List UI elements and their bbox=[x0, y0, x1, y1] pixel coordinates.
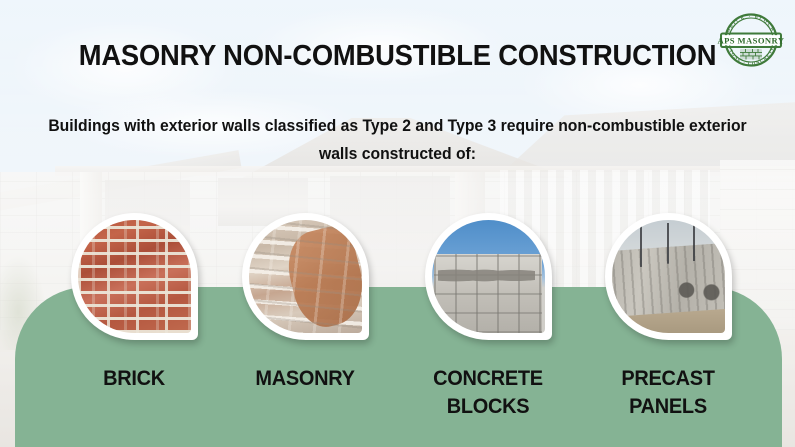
material-label-line2: BLOCKS bbox=[447, 395, 530, 418]
material-label-line1: PRECAST bbox=[621, 367, 714, 390]
material-badge[interactable] bbox=[71, 213, 198, 340]
material-item-concrete-blocks[interactable]: CONCRETE BLOCKS bbox=[398, 213, 578, 340]
material-badge[interactable] bbox=[425, 213, 552, 340]
material-label: PRECAST PANELS bbox=[583, 365, 754, 421]
infographic-slide: APS MASONRY BRICK · BLOCK STONE · CONCRE… bbox=[0, 0, 795, 447]
material-label: MASONRY bbox=[220, 365, 391, 393]
material-label-line2: PANELS bbox=[629, 395, 707, 418]
precast-panels-photo bbox=[612, 220, 725, 333]
concrete-blocks-photo bbox=[432, 220, 545, 333]
material-badge[interactable] bbox=[242, 213, 369, 340]
page-title: MASONRY NON-COMBUSTIBLE CONSTRUCTION bbox=[16, 40, 779, 73]
page-subtitle: Buildings with exterior walls classified… bbox=[33, 112, 761, 168]
bricklayer-stonework-photo bbox=[249, 220, 362, 333]
red-brick-wall-photo bbox=[78, 220, 191, 333]
material-badge[interactable] bbox=[605, 213, 732, 340]
material-item-masonry[interactable]: MASONRY bbox=[215, 213, 395, 340]
material-label-line1: CONCRETE bbox=[433, 367, 543, 390]
material-item-brick[interactable]: BRICK bbox=[44, 213, 224, 340]
material-label: CONCRETE BLOCKS bbox=[403, 365, 574, 421]
material-item-precast-panels[interactable]: PRECAST PANELS bbox=[578, 213, 758, 340]
material-label: BRICK bbox=[49, 365, 220, 393]
